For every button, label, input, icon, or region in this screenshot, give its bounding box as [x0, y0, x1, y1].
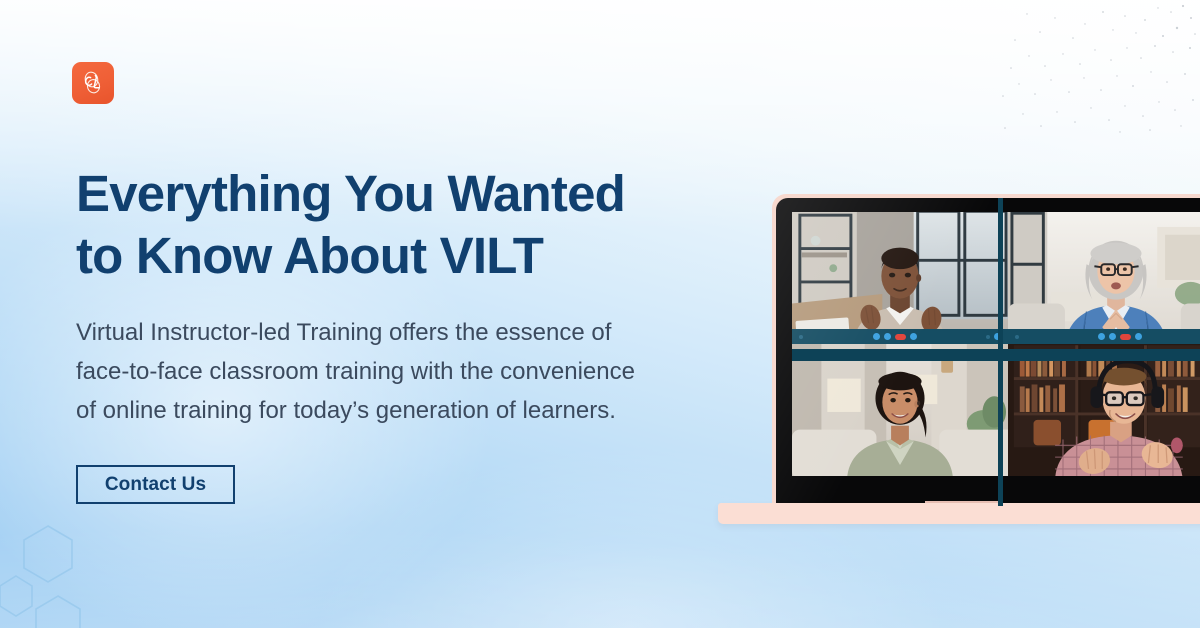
laptop-screen: [776, 198, 1200, 506]
video-tile-bottom-right[interactable]: [1008, 344, 1200, 476]
video-call-grid: [792, 212, 1200, 476]
headline-line-1: Everything You Wanted: [76, 165, 625, 222]
mic-icon[interactable]: [873, 333, 880, 340]
toolbar-indicator-icon: [799, 335, 803, 339]
end-call-icon[interactable]: [895, 334, 906, 340]
participant-photo-bottom-left: [792, 344, 1008, 476]
toolbar-indicator-icon: [1015, 335, 1019, 339]
video-grid-row-divider: [792, 349, 1200, 361]
more-options-icon[interactable]: [986, 335, 990, 339]
promo-banner: Everything You Wantedto Know About VILT …: [0, 0, 1200, 628]
hero-description: Virtual Instructor-led Training offers t…: [76, 313, 748, 430]
subcopy-line-3: of online training for today’s generatio…: [76, 397, 616, 424]
video-icon[interactable]: [884, 333, 891, 340]
contact-us-button[interactable]: Contact Us: [76, 465, 235, 504]
laptop-illustration: [718, 192, 1200, 537]
video-tile-top-left[interactable]: [792, 212, 1008, 344]
dot-texture-decoration: [985, 0, 1200, 135]
subcopy-line-1: Virtual Instructor-led Training offers t…: [76, 319, 611, 346]
mic-icon[interactable]: [1098, 333, 1105, 340]
participant-photo-top-right: [1008, 212, 1200, 344]
subcopy-line-2: face-to-face classroom training with the…: [76, 358, 635, 385]
hexagon-pattern-decoration: [0, 504, 216, 628]
video-tile-bottom-left[interactable]: [792, 344, 1008, 476]
video-tile-toolbar-top-left[interactable]: [792, 329, 1008, 344]
video-grid-column-divider: [998, 198, 1003, 506]
cl-monogram-icon: [78, 68, 108, 98]
headline-line-2: to Know About VILT: [76, 227, 543, 284]
laptop-base: [718, 503, 1200, 524]
video-icon[interactable]: [1109, 333, 1116, 340]
participants-icon[interactable]: [910, 333, 917, 340]
end-call-icon[interactable]: [1120, 334, 1131, 340]
participant-photo-bottom-right: [1008, 344, 1200, 476]
participant-photo-top-left: [792, 212, 1008, 344]
video-tile-toolbar-top-right[interactable]: [1008, 329, 1200, 344]
page-title: Everything You Wantedto Know About VILT: [76, 163, 776, 287]
brand-logo[interactable]: [72, 62, 114, 104]
video-tile-top-right[interactable]: [1008, 212, 1200, 344]
participants-icon[interactable]: [1135, 333, 1142, 340]
